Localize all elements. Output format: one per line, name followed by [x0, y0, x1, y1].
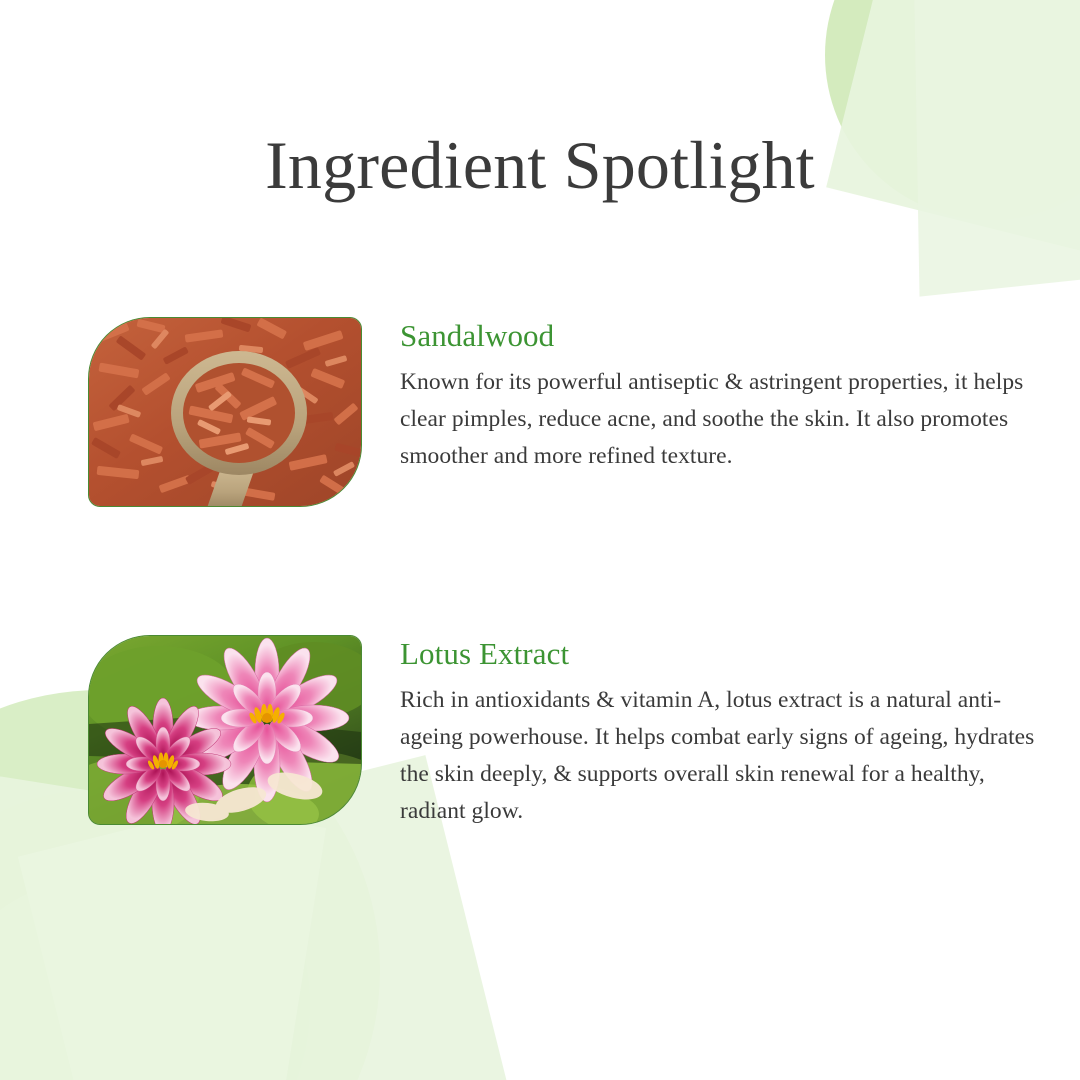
decor-circle-bottom-left-small [0, 880, 240, 1080]
ingredient-image-lotus [88, 635, 362, 825]
sandalwood-photo-icon [89, 318, 361, 506]
ingredient-description: Rich in antioxidants & vitamin A, lotus … [400, 682, 1040, 830]
ingredient-image-sandalwood [88, 317, 362, 507]
lotus-photo-icon [89, 636, 361, 824]
decor-circle-bottom-left-medium [0, 790, 310, 1080]
ingredient-text-block: Sandalwood Known for its powerful antise… [400, 317, 1040, 475]
ingredient-spotlight-page: Ingredient Spotlight [0, 0, 1080, 1080]
ingredient-item: Sandalwood Known for its powerful antise… [88, 317, 1040, 507]
ingredient-name: Lotus Extract [400, 637, 1040, 671]
ingredient-item: Lotus Extract Rich in antioxidants & vit… [88, 635, 1040, 830]
ingredient-text-block: Lotus Extract Rich in antioxidants & vit… [400, 635, 1040, 830]
ingredient-name: Sandalwood [400, 319, 1040, 353]
page-title: Ingredient Spotlight [0, 130, 1080, 201]
ingredient-description: Known for its powerful antiseptic & astr… [400, 364, 1040, 475]
